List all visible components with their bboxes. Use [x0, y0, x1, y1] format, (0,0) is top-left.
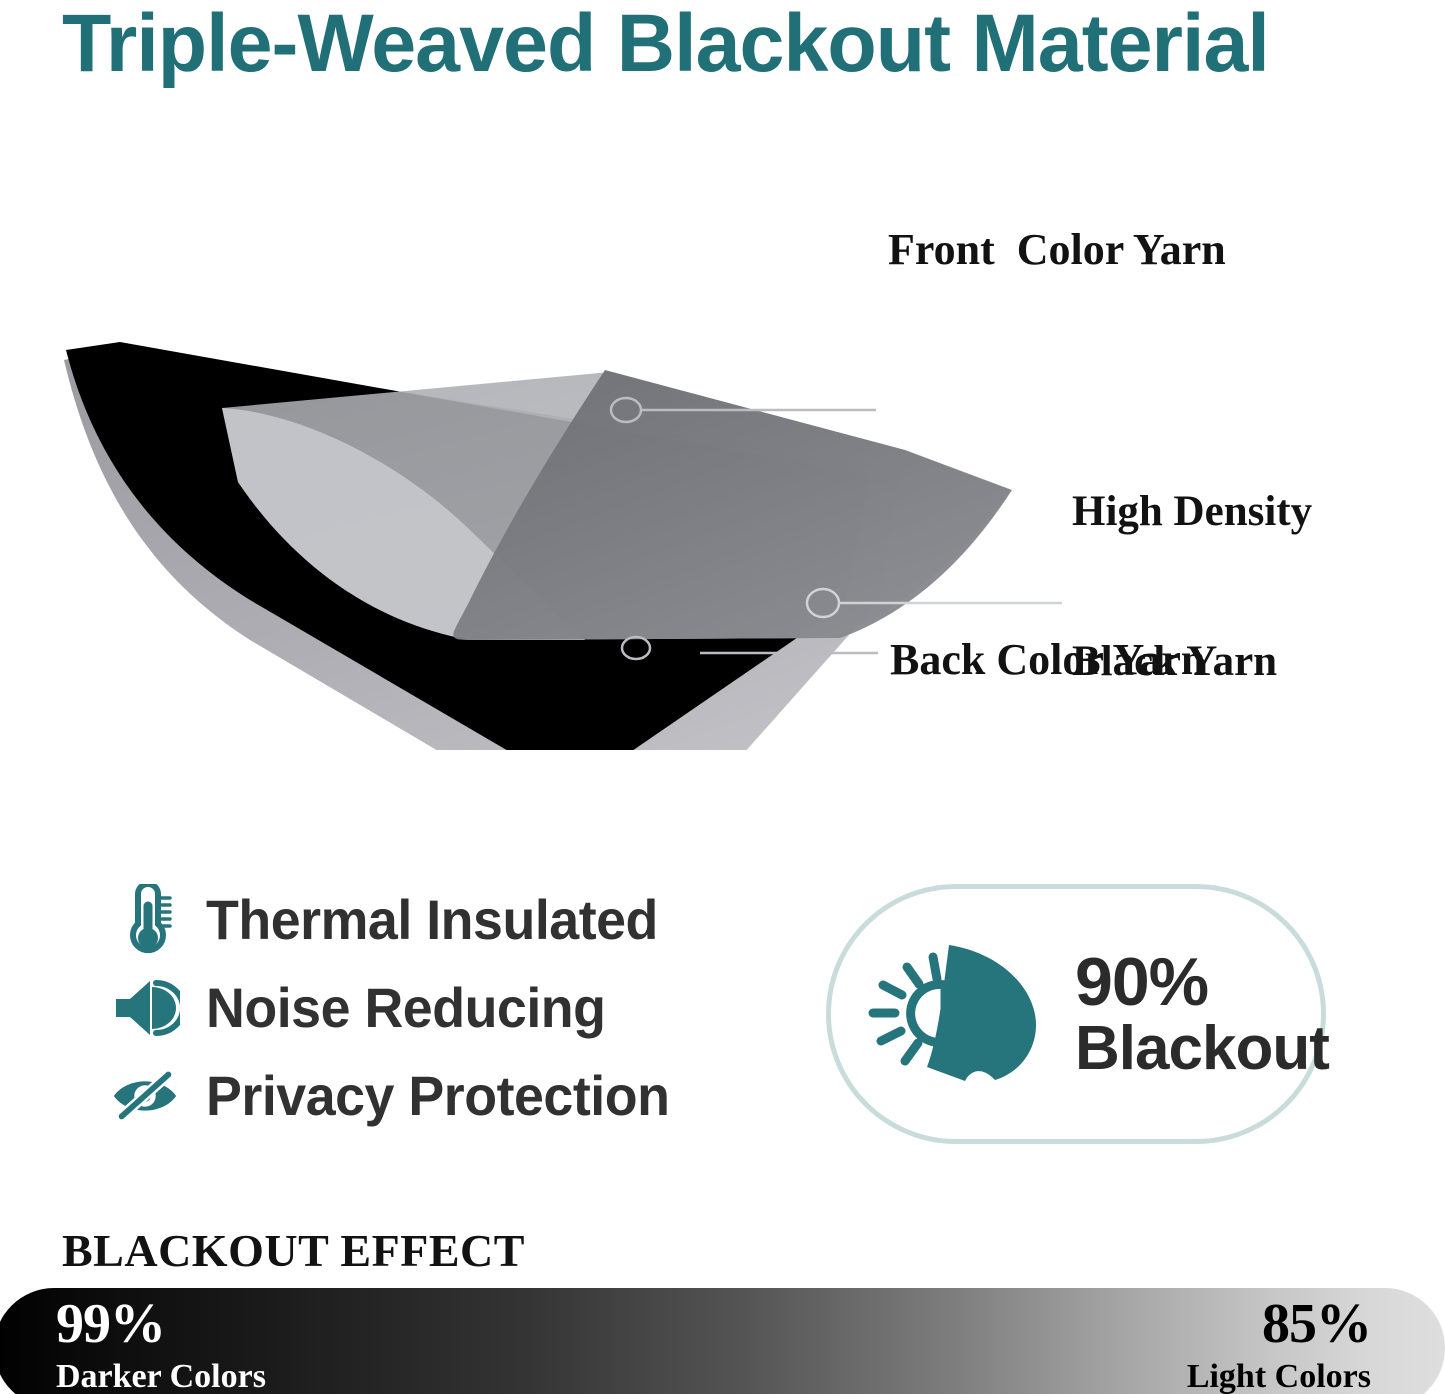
callout-label-back-color-yarn: Back Color Yarn: [890, 634, 1205, 686]
thermometer-icon: [108, 883, 182, 957]
blackout-percentage-badge: 90% Blackout: [826, 884, 1326, 1144]
feature-item-thermal-insulated: Thermal Insulated: [108, 876, 748, 964]
callout-label-black-line-1: High Density: [1072, 487, 1312, 537]
page-title: Triple-Weaved Blackout Material: [62, 0, 1382, 92]
light-colors-caption: Light Colors: [1187, 1356, 1371, 1394]
eye-slash-icon: [108, 1059, 182, 1133]
gradient-bar-right-stat: 85% Light Colors: [1187, 1296, 1371, 1394]
speaker-sound-icon: [108, 971, 182, 1045]
callout-label-high-density-black-yarn: High Density Black Yarn: [1072, 387, 1312, 787]
darker-colors-caption: Darker Colors: [56, 1356, 266, 1394]
feature-list: Thermal Insulated Noise Reducing: [108, 876, 748, 1140]
feature-label-privacy-protection: Privacy Protection: [206, 1066, 669, 1126]
feature-item-noise-reducing: Noise Reducing: [108, 964, 748, 1052]
gradient-bar-left-stat: 99% Darker Colors: [56, 1296, 266, 1394]
feature-label-thermal-insulated: Thermal Insulated: [206, 890, 658, 950]
badge-percent-value: 90%: [1075, 948, 1329, 1017]
badge-text-block: 90% Blackout: [1075, 948, 1329, 1081]
feature-item-privacy-protection: Privacy Protection: [108, 1052, 748, 1140]
darker-colors-percent: 99%: [56, 1296, 266, 1352]
sun-blackout-icon: [861, 939, 1061, 1089]
badge-blackout-label: Blackout: [1075, 1017, 1329, 1080]
callout-label-front-color-yarn: Front Color Yarn: [888, 224, 1226, 276]
infographic-page: Triple-Weaved Blackout Material: [0, 0, 1445, 1394]
feature-label-noise-reducing: Noise Reducing: [206, 978, 606, 1038]
blackout-effect-heading: BLACKOUT EFFECT: [62, 1225, 525, 1277]
light-colors-percent: 85%: [1187, 1296, 1371, 1352]
